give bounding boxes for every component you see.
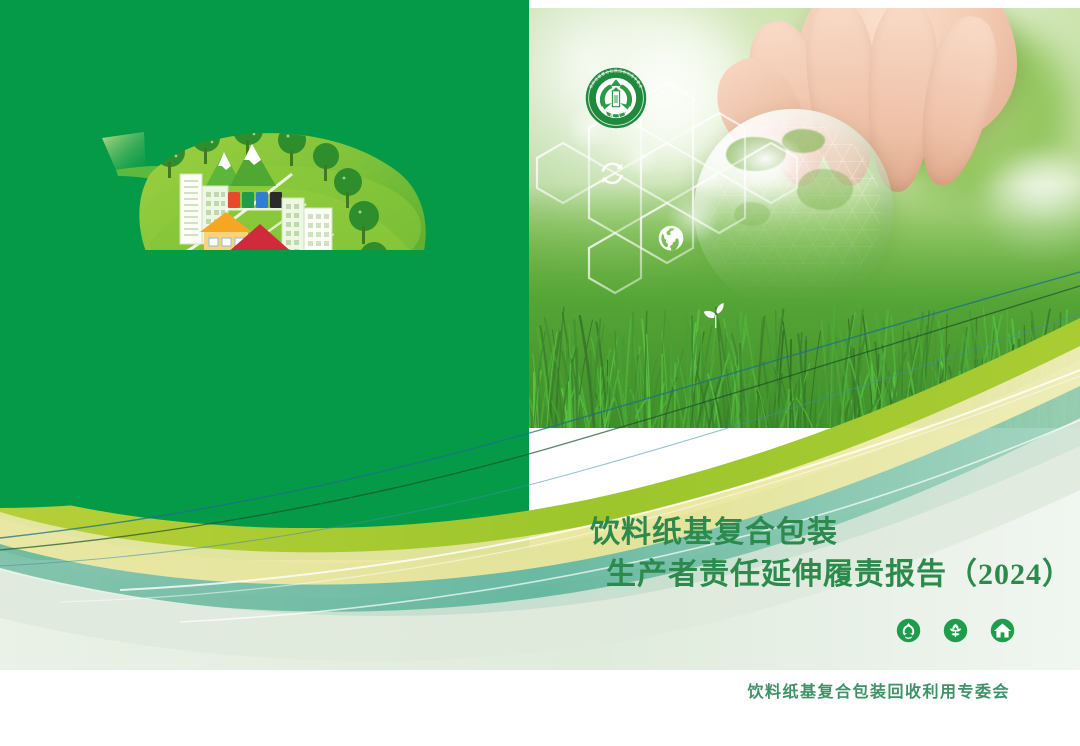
title-block: 饮料纸基复合包装 生产者责任延伸履责报告（2024） (590, 512, 1060, 596)
badge-row (896, 618, 1015, 643)
cric-logo: 饮料纸基复合包装回收利用专委会 C R I C (580, 62, 652, 134)
home-badge (990, 618, 1015, 643)
logo-carton-icon (612, 87, 619, 106)
title-line-1: 饮料纸基复合包装 (590, 512, 1060, 554)
decorative-wave-band (0, 250, 1080, 670)
recycle-arrows-badge (896, 618, 921, 643)
title-line-2: 生产者责任延伸履责报告（2024） (590, 554, 1060, 596)
organization-name: 饮料纸基复合包装回收利用专委会 (0, 678, 1010, 702)
leaf-plant-badge (943, 618, 968, 643)
report-cover-page: 饮料纸基复合包装回收利用专委会 C R I C 饮料纸基复合包装 生产者责任延伸… (0, 0, 1080, 746)
leaf-tip (102, 132, 146, 172)
